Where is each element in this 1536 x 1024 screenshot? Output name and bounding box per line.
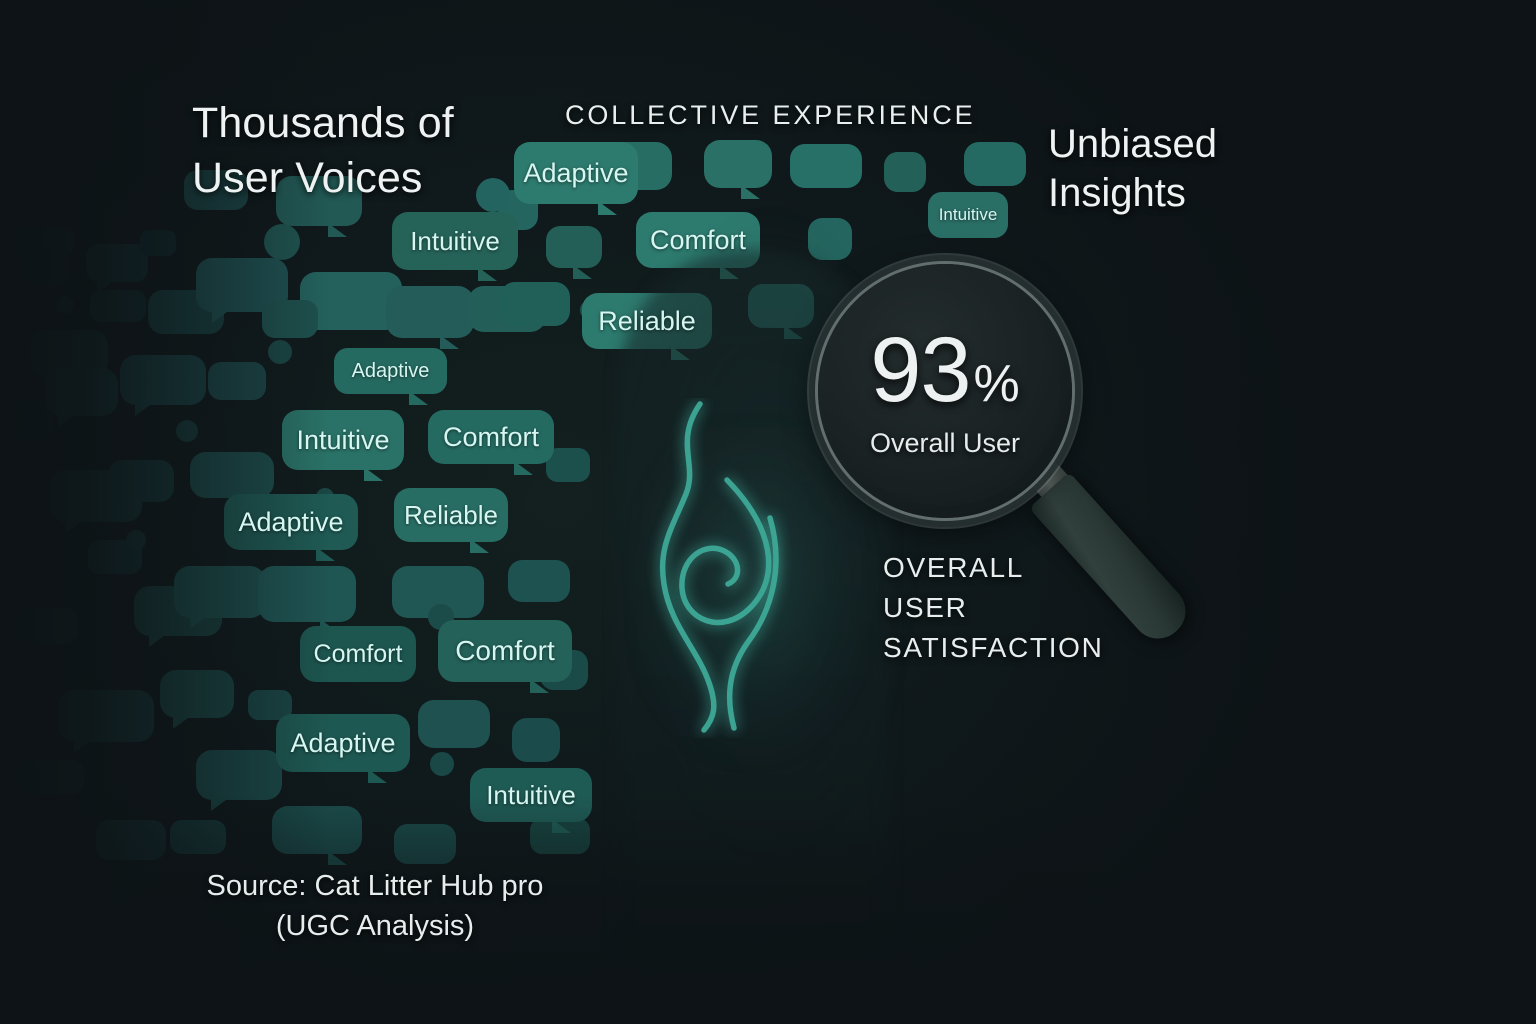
bubble-body xyxy=(468,286,546,332)
headline-left-line1: Thousands of xyxy=(192,96,612,151)
keyword-bubble-label: Adaptive xyxy=(238,507,343,538)
bubble-body xyxy=(386,286,474,338)
decor-speech-bubble xyxy=(20,250,68,286)
bubble-body xyxy=(196,750,282,800)
bubble-body xyxy=(140,230,176,256)
bubble-body xyxy=(438,620,572,682)
keyword-speech-bubble: Adaptive xyxy=(276,714,410,772)
satisfaction-stat-sublabel: Overall User xyxy=(870,428,1020,459)
keyword-bubble-label: Intuitive xyxy=(486,780,576,811)
bubble-body xyxy=(86,244,148,282)
keyword-bubble-label: Comfort xyxy=(314,640,403,669)
decor-speech-bubble xyxy=(14,226,74,256)
satisfaction-caption-line1: OVERALL xyxy=(883,548,1104,588)
bubble-body xyxy=(276,714,410,772)
decor-speech-bubble xyxy=(46,368,118,416)
decor-speech-bubble xyxy=(208,362,266,400)
decor-speech-bubble xyxy=(96,820,166,860)
dot-body xyxy=(580,300,600,320)
decor-speech-bubble xyxy=(540,650,588,690)
keyword-bubble-label: Intuitive xyxy=(296,425,389,456)
keyword-speech-bubble: Comfort xyxy=(636,212,760,268)
bubble-body xyxy=(170,820,226,854)
dot-body xyxy=(268,340,292,364)
bubble-body xyxy=(148,290,224,334)
keyword-bubble-label: Comfort xyxy=(455,635,555,667)
bubble-body xyxy=(58,690,154,742)
dot-body xyxy=(176,420,198,442)
decor-speech-bubble xyxy=(196,750,282,800)
keyword-bubble-label: Intuitive xyxy=(939,205,998,225)
bubble-body xyxy=(636,212,760,268)
bubble-body xyxy=(300,626,416,682)
bubble-body xyxy=(300,272,402,330)
headline-center: COLLECTIVE EXPERIENCE xyxy=(565,100,976,131)
decor-speech-bubble xyxy=(170,820,226,854)
decor-speech-bubble xyxy=(546,226,602,268)
decor-speech-bubble xyxy=(262,300,318,338)
decor-speech-bubble xyxy=(88,540,142,574)
bubble-body xyxy=(248,690,292,720)
bubble-body xyxy=(88,540,142,574)
decor-speech-bubble xyxy=(18,760,84,794)
bubble-body xyxy=(392,566,484,618)
keyword-speech-bubble: Intuitive xyxy=(928,192,1008,238)
bubble-body xyxy=(10,410,52,440)
source-line2: (UGC Analysis) xyxy=(140,906,610,946)
bubble-body xyxy=(190,452,274,498)
bubble-body xyxy=(258,566,356,622)
bubble-body xyxy=(134,586,222,636)
decor-speech-bubble xyxy=(58,690,154,742)
decor-speech-bubble xyxy=(0,400,52,436)
bubble-body xyxy=(582,293,712,349)
satisfaction-stat: 93 % xyxy=(870,324,1020,416)
decor-speech-bubble xyxy=(30,330,108,376)
keyword-speech-bubble: Adaptive xyxy=(224,494,358,550)
keyword-speech-bubble: Reliable xyxy=(394,488,508,542)
source-attribution: Source: Cat Litter Hub pro (UGC Analysis… xyxy=(140,866,610,946)
bubble-body xyxy=(394,824,456,864)
bubble-body xyxy=(30,330,108,376)
satisfaction-caption: OVERALL USER SATISFACTION xyxy=(883,548,1104,667)
decor-speech-bubble xyxy=(386,286,474,338)
keyword-bubble-label: Adaptive xyxy=(290,728,395,759)
decor-speech-bubble xyxy=(508,560,570,602)
bubble-body xyxy=(964,142,1026,186)
decor-speech-bubble xyxy=(148,290,224,334)
keyword-speech-bubble: Intuitive xyxy=(282,410,404,470)
decor-speech-bubble xyxy=(546,448,590,482)
dot-body xyxy=(56,296,74,314)
decor-speech-bubble xyxy=(606,142,672,190)
magnifier-lens-inner: 93 % Overall User xyxy=(830,276,1060,506)
keyword-speech-bubble: Comfort xyxy=(428,410,554,464)
decor-dot xyxy=(580,300,600,320)
infographic-canvas: AdaptiveIntuitiveComfortIntuitiveReliabl… xyxy=(0,0,1536,1024)
bubble-body xyxy=(18,760,84,794)
dot-body xyxy=(126,530,146,550)
satisfaction-caption-line3: SATISFACTION xyxy=(883,628,1104,668)
magnifier-lens: 93 % Overall User xyxy=(818,264,1072,518)
satisfaction-stat-value: 93 xyxy=(870,324,970,416)
dot-body xyxy=(430,752,454,776)
decor-dot xyxy=(428,604,454,630)
decor-speech-bubble xyxy=(10,410,52,440)
keyword-bubble-label: Intuitive xyxy=(410,226,500,257)
decor-speech-bubble xyxy=(512,718,560,762)
headline-right-line2: Insights xyxy=(1048,169,1378,218)
keyword-bubble-label: Adaptive xyxy=(352,360,430,383)
satisfaction-caption-line2: USER xyxy=(883,588,1104,628)
decor-speech-bubble xyxy=(134,586,222,636)
decor-speech-bubble xyxy=(964,142,1026,186)
bubble-body xyxy=(272,806,362,854)
decor-speech-bubble xyxy=(16,608,78,644)
keyword-speech-bubble: Intuitive xyxy=(392,212,518,270)
decor-speech-bubble xyxy=(258,566,356,622)
headline-left: Thousands of User Voices xyxy=(192,96,612,206)
decor-dot xyxy=(126,530,146,550)
bubble-body xyxy=(928,192,1008,238)
decor-dot xyxy=(56,296,74,314)
decor-speech-bubble xyxy=(196,258,288,312)
decor-speech-bubble xyxy=(468,286,546,332)
bubble-body xyxy=(108,460,174,502)
decor-speech-bubble xyxy=(108,460,174,502)
bubble-body xyxy=(530,818,590,854)
bubble-body xyxy=(790,144,862,188)
decor-speech-bubble xyxy=(160,670,234,718)
bubble-body xyxy=(606,142,672,190)
dot-body xyxy=(316,488,334,506)
bubble-body xyxy=(0,400,52,436)
decor-speech-bubble xyxy=(394,824,456,864)
bubble-body xyxy=(546,448,590,482)
bubble-body xyxy=(884,152,926,192)
decor-speech-bubble xyxy=(790,144,862,188)
headline-right: Unbiased Insights xyxy=(1048,120,1378,218)
bubble-body xyxy=(512,718,560,762)
bubble-body xyxy=(392,212,518,270)
bubble-body xyxy=(704,140,772,188)
source-line1: Source: Cat Litter Hub pro xyxy=(140,866,610,906)
bubble-body xyxy=(262,300,318,338)
bubble-body xyxy=(174,566,266,618)
bubble-body xyxy=(546,226,602,268)
decor-speech-bubble xyxy=(392,566,484,618)
decor-speech-bubble xyxy=(248,690,292,720)
bubble-body xyxy=(394,488,508,542)
keyword-bubble-label: Reliable xyxy=(598,306,696,337)
keyword-speech-bubble: Comfort xyxy=(438,620,572,682)
decor-dot xyxy=(430,752,454,776)
bubble-body xyxy=(16,608,78,644)
bubble-body xyxy=(282,410,404,470)
decor-speech-bubble xyxy=(418,700,490,748)
dot-body xyxy=(264,224,300,260)
decor-speech-bubble xyxy=(86,244,148,282)
bubble-body xyxy=(540,650,588,690)
bubble-body xyxy=(470,768,592,822)
decor-dot xyxy=(264,224,300,260)
decor-speech-bubble xyxy=(140,230,176,256)
bubble-body xyxy=(334,348,447,394)
decor-dot xyxy=(316,488,334,506)
bubble-body xyxy=(224,494,358,550)
dot-body xyxy=(428,604,454,630)
decor-speech-bubble xyxy=(50,470,142,522)
decor-speech-bubble xyxy=(530,818,590,854)
keyword-speech-bubble: Intuitive xyxy=(470,768,592,822)
keyword-bubble-label: Comfort xyxy=(650,225,746,256)
decor-dot xyxy=(176,420,198,442)
keyword-speech-bubble: Reliable xyxy=(582,293,712,349)
bubble-body xyxy=(418,700,490,748)
decor-speech-bubble xyxy=(120,355,206,405)
satisfaction-stat-unit: % xyxy=(974,358,1020,410)
bubble-body xyxy=(500,282,570,326)
bubble-body xyxy=(50,470,142,522)
decor-dot xyxy=(268,340,292,364)
bubble-body xyxy=(20,250,68,286)
decor-speech-bubble xyxy=(90,290,146,322)
keyword-speech-bubble: Comfort xyxy=(300,626,416,682)
decor-speech-bubble xyxy=(704,140,772,188)
bubble-body xyxy=(120,355,206,405)
decor-speech-bubble xyxy=(190,452,274,498)
keyword-speech-bubble: Adaptive xyxy=(334,348,447,394)
decor-speech-bubble xyxy=(300,272,402,330)
decor-speech-bubble xyxy=(884,152,926,192)
headline-left-line2: User Voices xyxy=(192,151,612,206)
bubble-body xyxy=(90,290,146,322)
bubble-body xyxy=(428,410,554,464)
keyword-bubble-label: Comfort xyxy=(443,422,539,453)
headline-right-line1: Unbiased xyxy=(1048,120,1378,169)
bubble-body xyxy=(46,368,118,416)
decor-speech-bubble xyxy=(500,282,570,326)
bubble-body xyxy=(508,560,570,602)
bubble-body xyxy=(196,258,288,312)
bubble-body xyxy=(96,820,166,860)
bubble-body xyxy=(14,226,74,256)
decor-speech-bubble xyxy=(272,806,362,854)
decor-speech-bubble xyxy=(174,566,266,618)
bubble-body xyxy=(208,362,266,400)
keyword-bubble-label: Reliable xyxy=(404,500,498,531)
bubble-body xyxy=(160,670,234,718)
